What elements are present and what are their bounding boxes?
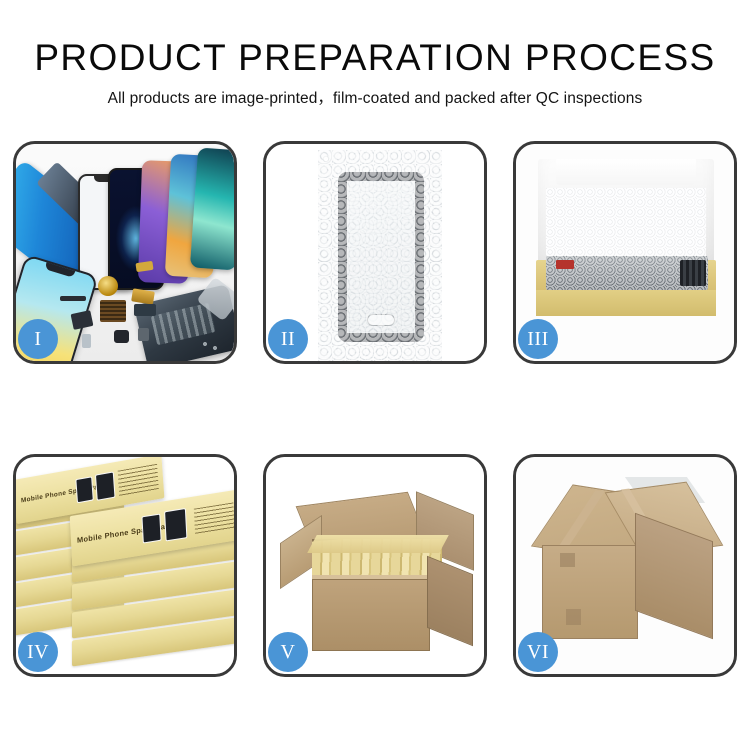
box-label-phone-thumb-4 (164, 508, 187, 542)
step-badge-5: V (268, 632, 308, 672)
chip-array-part (100, 300, 126, 322)
step-panel-3[interactable]: III (513, 141, 737, 364)
box-label-text-rear: Mobile Phone Spare Parts (21, 482, 108, 504)
earpiece-speaker-part (60, 296, 86, 301)
retail-box-front-image (536, 290, 716, 316)
box-label-phone-thumb-3 (141, 514, 161, 544)
step-panel-2[interactable]: II (263, 141, 487, 364)
phone-screen-teal-image (190, 148, 234, 271)
step-panel-4[interactable]: Mobile Phone Spare Parts Mobile Phone Sp… (13, 454, 237, 677)
screen-outline (338, 172, 424, 342)
step-panel-5[interactable]: V (263, 454, 487, 677)
process-steps-grid: I II III (13, 141, 738, 677)
page-header: PRODUCT PREPARATION PROCESS All products… (0, 0, 750, 109)
carton-contents-top-face (307, 535, 449, 553)
step-badge-4: IV (18, 632, 58, 672)
bubble-wrapped-screen-image (318, 150, 442, 361)
connector-part (138, 328, 149, 341)
step-panel-1[interactable]: I (13, 141, 237, 364)
carton-hand-hole-lower (566, 609, 581, 625)
page-title: PRODUCT PREPARATION PROCESS (0, 0, 750, 80)
carton-hand-hole-upper (560, 553, 575, 567)
page-subtitle: All products are image-printed，film-coat… (0, 80, 750, 109)
box-label-spec-lines-front (194, 502, 234, 534)
step-badge-2: II (268, 319, 308, 359)
foam-padding-image (546, 188, 706, 258)
step-panel-6[interactable]: VI (513, 454, 737, 677)
box-label-phone-thumb-2 (95, 471, 116, 500)
camera-module-part (114, 330, 129, 343)
sim-tray-part (82, 334, 91, 348)
vibration-motor-part (98, 276, 118, 296)
sealed-carton-front-face (542, 545, 638, 639)
box-label-phone-thumb-1 (75, 476, 93, 503)
flex-cable-part-c (134, 304, 156, 316)
home-button-shape (367, 314, 395, 326)
box-label-spec-lines-rear (118, 464, 159, 497)
wrapped-screen-in-box-image (546, 256, 708, 290)
step-badge-1: I (18, 319, 58, 359)
step-badge-3: III (518, 319, 558, 359)
step-badge-6: VI (518, 632, 558, 672)
carton-front-face (312, 579, 430, 651)
screws-part (202, 340, 222, 352)
